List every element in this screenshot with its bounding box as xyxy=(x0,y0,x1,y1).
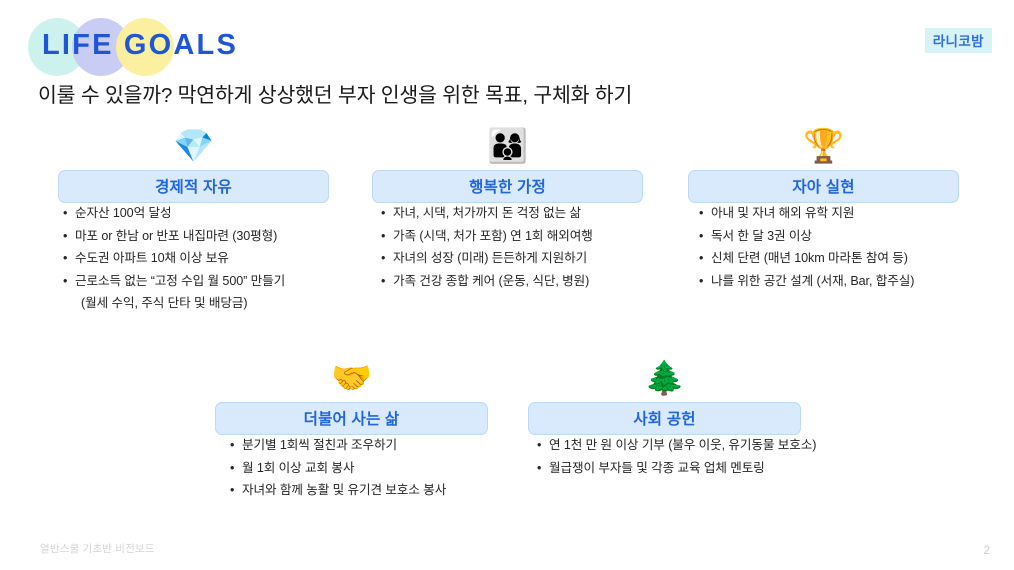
logo-text: LIFE GOALS xyxy=(42,29,238,62)
goal-bullet-list: 연 1천 만 원 이상 기부 (불우 이웃, 유기동물 보호소)월급쟁이 부자들… xyxy=(536,434,809,479)
goal-group-heading: 더불어 사는 삶 xyxy=(215,402,488,435)
goal-group-heading: 사회 공헌 xyxy=(528,402,801,435)
goal-bullet-item: 순자산 100억 달성 xyxy=(62,202,333,225)
page-number: 2 xyxy=(984,545,990,557)
goal-bullet-item: 아내 및 자녀 해외 유학 지원 xyxy=(698,202,969,225)
handshake-icon: 🤝 xyxy=(215,358,488,398)
footer-note: 열반스쿨 기초반 비전보드 xyxy=(40,541,155,556)
goal-bullet-item: 자녀, 시댁, 처가까지 돈 걱정 없는 삶 xyxy=(380,202,651,225)
goal-bullet-item: 근로소득 없는 “고정 수입 월 500” 만들기 xyxy=(62,270,333,293)
goal-bullet-item: 연 1천 만 원 이상 기부 (불우 이웃, 유기동물 보호소) xyxy=(536,434,809,457)
goal-bullet-item: 독서 한 달 3권 이상 xyxy=(698,225,969,248)
goal-group-heading: 경제적 자유 xyxy=(58,170,329,203)
goal-bullet-item: 가족 건강 종합 케어 (운동, 식단, 병원) xyxy=(380,270,651,293)
slide-canvas: LIFE GOALS 라니코밤 이룰 수 있을까? 막연하게 상상했던 부자 인… xyxy=(0,0,1014,570)
goal-bullet-item: 분기별 1회씩 절친과 조우하기 xyxy=(229,434,502,457)
goal-bullet-item: 가족 (시댁, 처가 포함) 연 1회 해외여행 xyxy=(380,225,651,248)
goal-bullet-item: 자녀의 성장 (미래) 든든하게 지원하기 xyxy=(380,247,651,270)
goal-bullet-item: 나를 위한 공간 설계 (서재, Bar, 합주실) xyxy=(698,270,969,293)
goal-bullet-item: 월 1회 이상 교회 봉사 xyxy=(229,457,502,480)
goal-group-heading: 자아 실현 xyxy=(688,170,959,203)
goal-bullet-list: 아내 및 자녀 해외 유학 지원독서 한 달 3권 이상신체 단련 (매년 10… xyxy=(698,202,969,292)
goal-bullet-item: 월급쟁이 부자들 및 각종 교육 업체 멘토링 xyxy=(536,457,809,480)
family-icon: 👨‍👩‍👦 xyxy=(372,126,643,166)
goal-bullet-item: 신체 단련 (매년 10km 마라톤 참여 등) xyxy=(698,247,969,270)
goal-bullet-list: 자녀, 시댁, 처가까지 돈 걱정 없는 삶가족 (시댁, 처가 포함) 연 1… xyxy=(380,202,651,292)
goal-bullet-item: 수도권 아파트 10채 이상 보유 xyxy=(62,247,333,270)
goal-bullet-item: (월세 수익, 주식 단타 및 배당금) xyxy=(62,292,333,315)
evergreen-tree-icon: 🌲 xyxy=(528,358,801,398)
brand-badge: 라니코밤 xyxy=(925,28,992,53)
goal-bullet-list: 분기별 1회씩 절친과 조우하기월 1회 이상 교회 봉사자녀와 함께 농활 및… xyxy=(229,434,502,502)
trophy-icon: 🏆 xyxy=(688,126,959,166)
goal-bullet-item: 마포 or 한남 or 반포 내집마련 (30평형) xyxy=(62,225,333,248)
goal-bullet-list: 순자산 100억 달성마포 or 한남 or 반포 내집마련 (30평형)수도권… xyxy=(62,202,333,315)
goal-group-heading: 행복한 가정 xyxy=(372,170,643,203)
goal-bullet-item: 자녀와 함께 농활 및 유기견 보호소 봉사 xyxy=(229,479,502,502)
page-title: 이룰 수 있을까? 막연하게 상상했던 부자 인생을 위한 목표, 구체화 하기 xyxy=(38,78,632,108)
logo: LIFE GOALS xyxy=(28,18,268,76)
gem-stone-icon: 💎 xyxy=(58,126,329,166)
